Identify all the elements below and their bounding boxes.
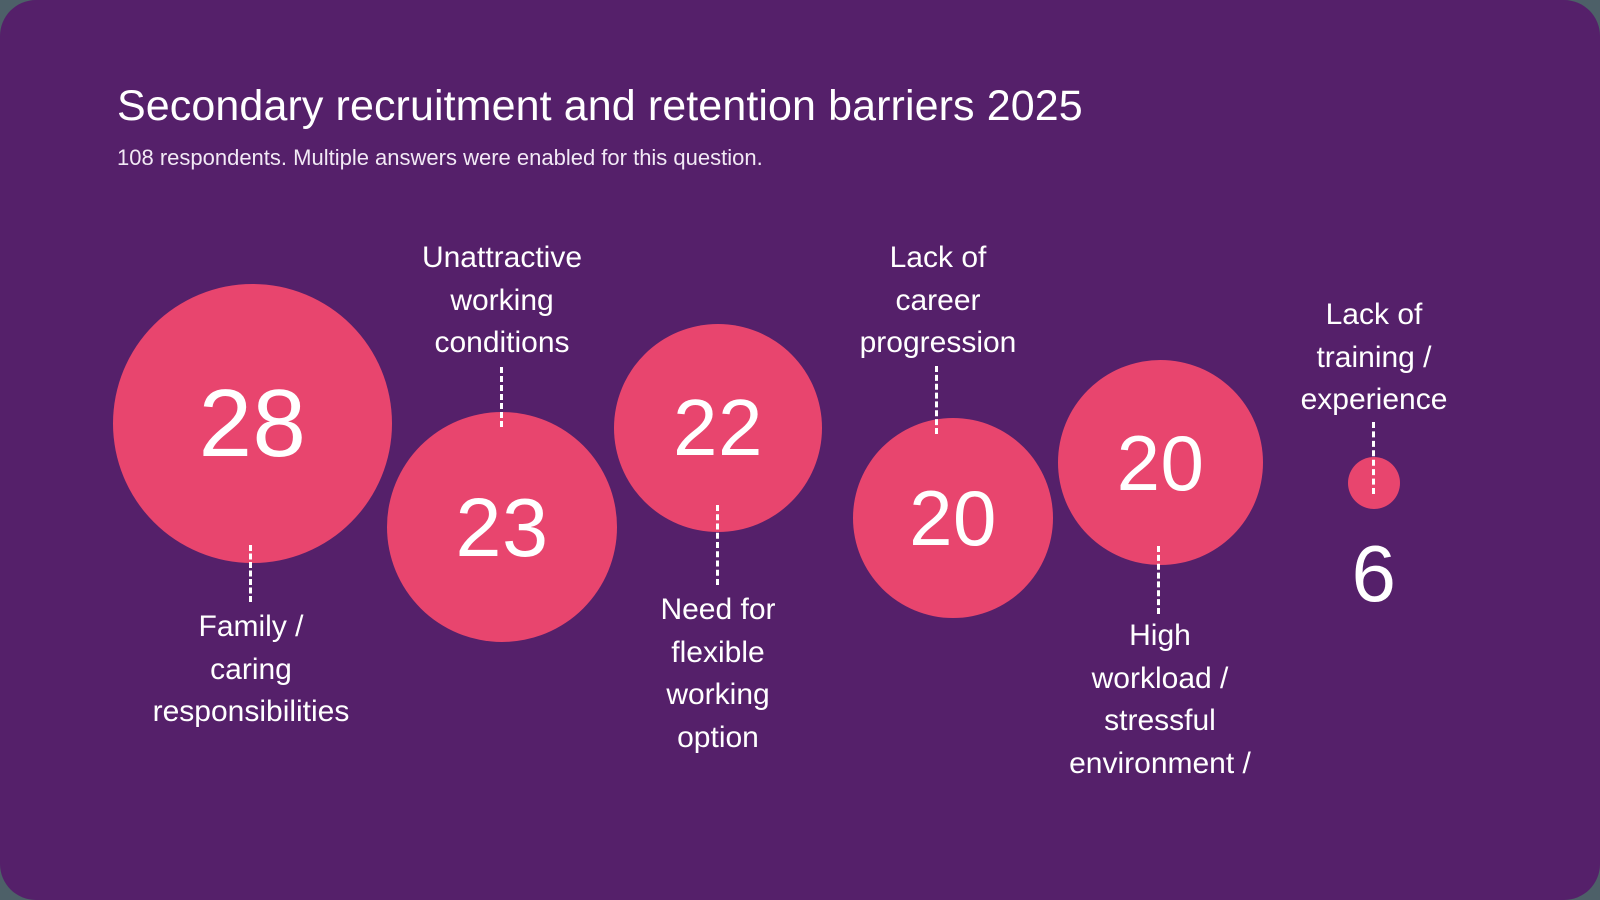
- bubble-value: 20: [909, 479, 997, 557]
- bubble-value: 22: [673, 388, 763, 468]
- bubble-label: Lack of career progression: [778, 237, 1098, 365]
- bubble-value: 28: [199, 376, 307, 472]
- bubble-connector: [935, 366, 938, 434]
- bubble-connector: [1372, 422, 1375, 494]
- infographic-canvas: Secondary recruitment and retention barr…: [0, 0, 1600, 900]
- bubble-connector: [1157, 546, 1160, 614]
- bubble-value: 20: [1117, 424, 1205, 502]
- bubble-value: 23: [455, 486, 548, 569]
- bubble-connector: [500, 367, 503, 427]
- bubble-label: Family / caring responsibilities: [91, 606, 411, 734]
- bubble-value: 6: [1314, 534, 1434, 614]
- bubble-label: Need for flexible working option: [558, 589, 878, 759]
- bubble-circle[interactable]: 20: [853, 418, 1053, 618]
- bubble-connector: [249, 545, 252, 602]
- bubble-chart: 28 Family / caring responsibilities 23 U…: [0, 0, 1600, 900]
- bubble-connector: [716, 505, 719, 585]
- infographic-card: Secondary recruitment and retention barr…: [0, 0, 1600, 900]
- bubble-label: High workload / stressful environment /: [1000, 615, 1320, 785]
- bubble-label: Lack of training / experience: [1214, 294, 1534, 422]
- bubble-label: Unattractive working conditions: [342, 237, 662, 365]
